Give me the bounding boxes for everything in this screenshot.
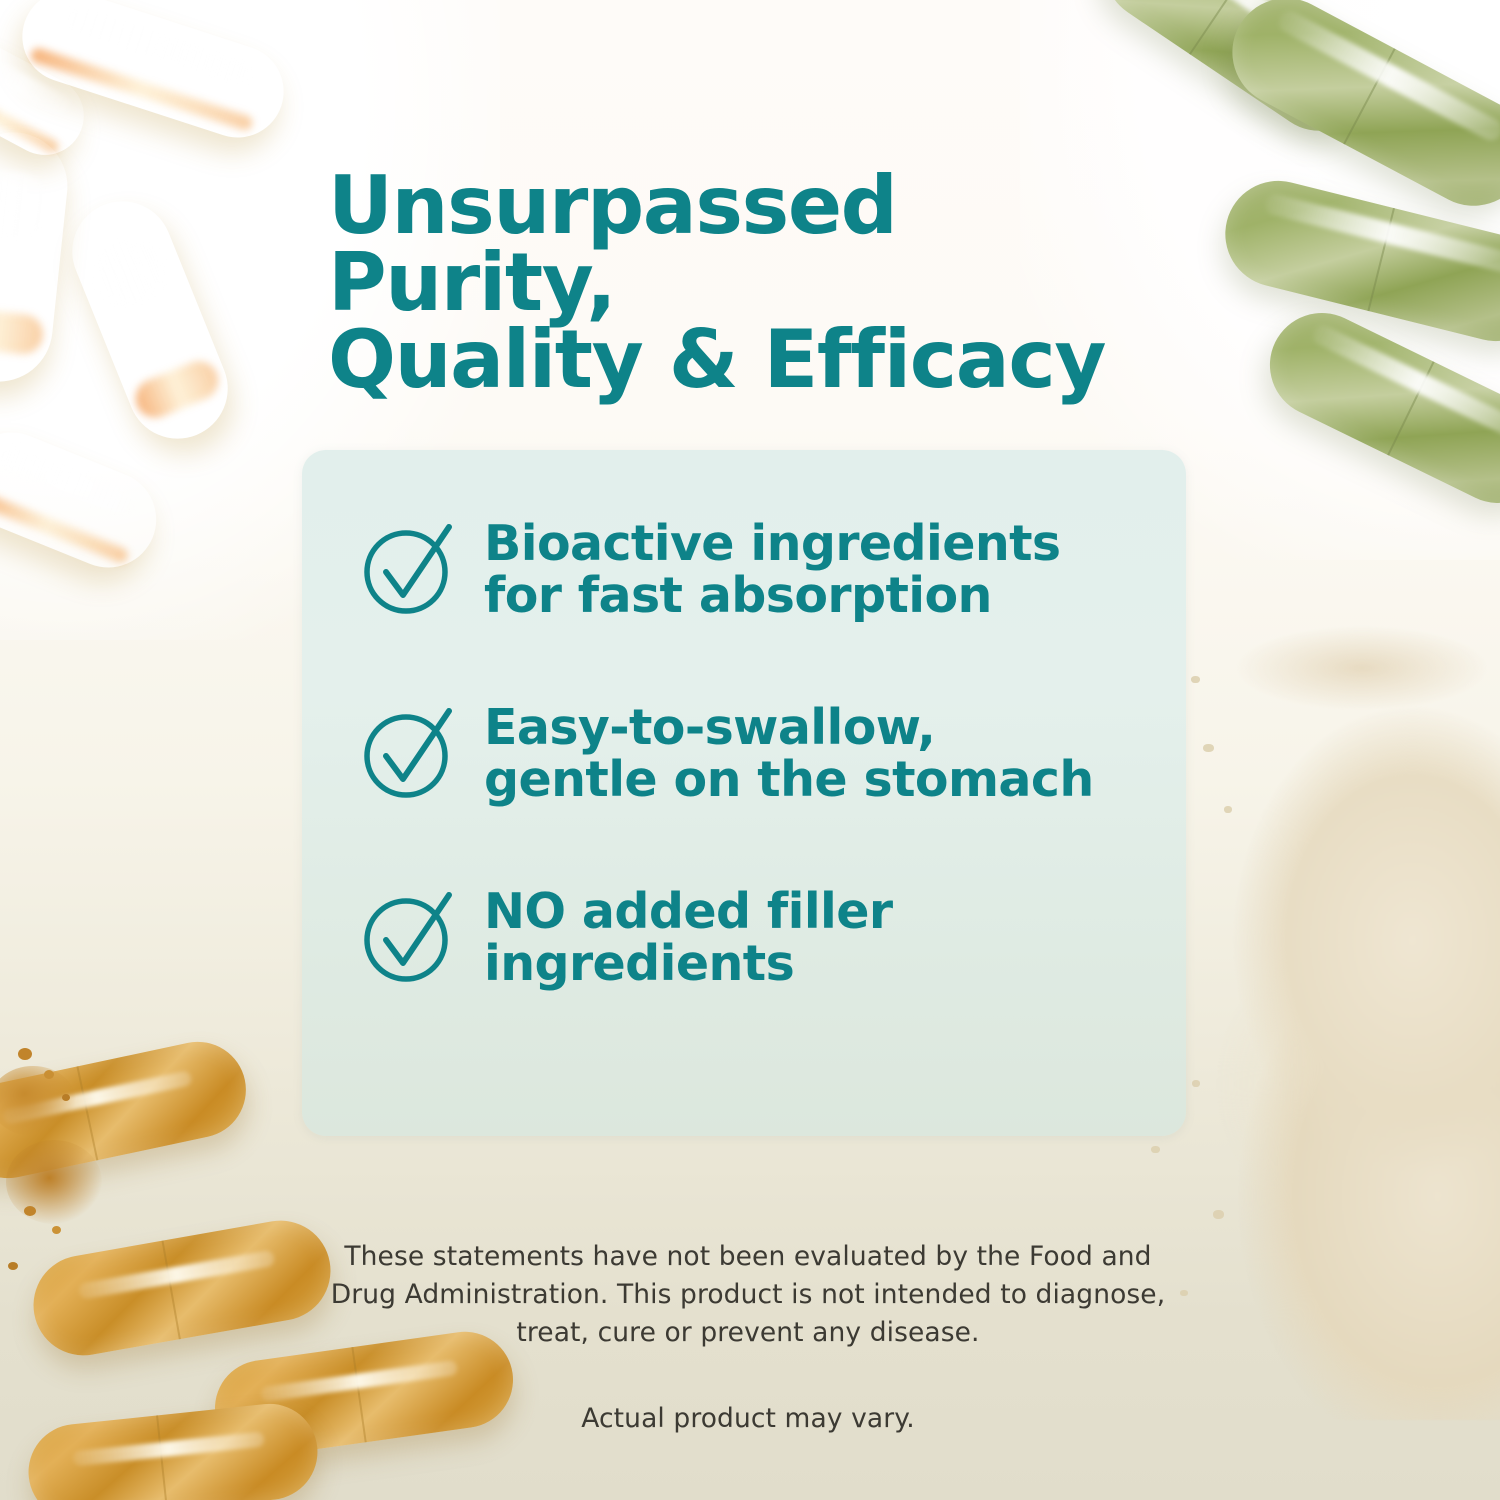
product-variation-note: Actual product may vary. xyxy=(330,1400,1166,1438)
benefit-label: NO added filler ingredients xyxy=(484,880,892,990)
benefit-label: Bioactive ingredients for fast absorptio… xyxy=(484,512,1061,622)
list-item: Bioactive ingredients for fast absorptio… xyxy=(356,512,1152,622)
turmeric-capsule xyxy=(24,1399,322,1500)
disclaimer-block: These statements have not been evaluated… xyxy=(330,1238,1166,1438)
turmeric-capsule xyxy=(26,1213,339,1364)
product-benefits-graphic: Unsurpassed Purity, Quality & Efficacy B… xyxy=(0,0,1500,1500)
page-title: Unsurpassed Purity, Quality & Efficacy xyxy=(328,168,1208,398)
check-circle-icon xyxy=(356,882,464,990)
check-circle-icon xyxy=(356,514,464,622)
list-item: NO added filler ingredients xyxy=(356,880,1152,990)
headline-line-2: Quality & Efficacy xyxy=(328,322,1208,399)
fda-disclaimer-text: These statements have not been evaluated… xyxy=(330,1238,1166,1352)
benefits-list: Bioactive ingredients for fast absorptio… xyxy=(356,512,1152,990)
benefit-label: Easy-to-swallow, gentle on the stomach xyxy=(484,696,1094,806)
benefits-card: Bioactive ingredients for fast absorptio… xyxy=(302,450,1186,1136)
headline-line-1: Unsurpassed Purity, xyxy=(328,168,1208,322)
check-circle-icon xyxy=(356,698,464,806)
list-item: Easy-to-swallow, gentle on the stomach xyxy=(356,696,1152,806)
